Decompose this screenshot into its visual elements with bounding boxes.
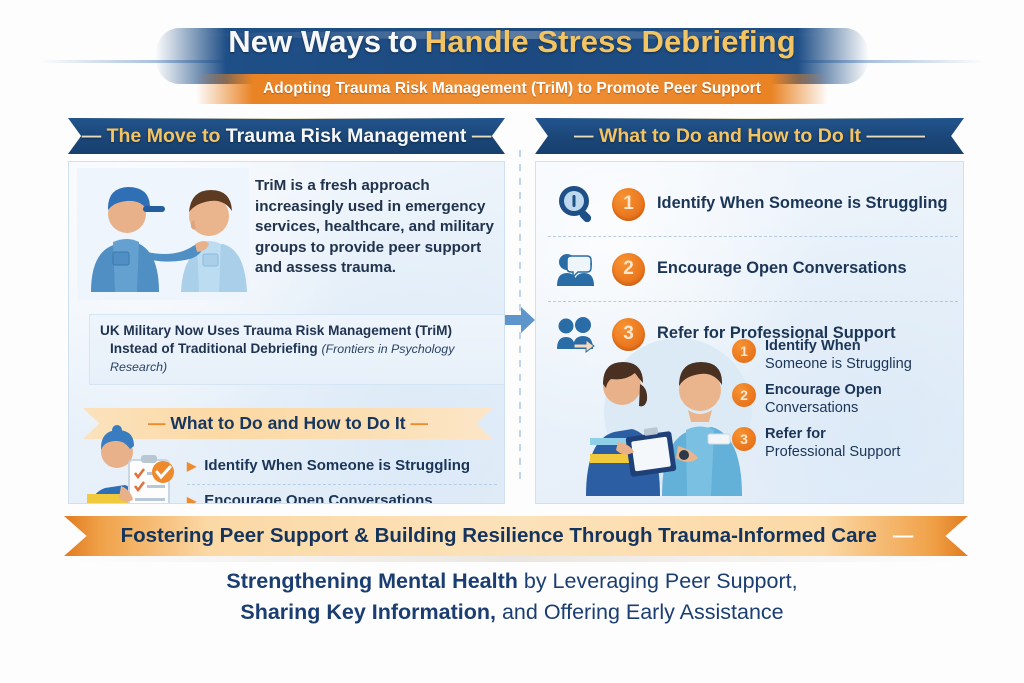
step-number: 2 [612, 253, 645, 286]
overlay-number: 1 [732, 339, 756, 363]
list-item: ▶ Identify When Someone is Struggling [187, 450, 497, 485]
footer-text: Strengthening Mental Health by Leveragin… [0, 566, 1024, 628]
left-top-row: TriM is a fresh approach increasingly us… [69, 162, 504, 304]
page-title: New Ways to Handle Stress Debriefing [0, 14, 1024, 70]
magnifier-icon [554, 183, 600, 225]
page-subtitle: Adopting Trauma Risk Management (TriM) t… [0, 75, 1024, 103]
footer-line-2-bold: Sharing Key Information, [240, 600, 496, 624]
footer-line-2: Sharing Key Information, and Offering Ea… [0, 597, 1024, 628]
overlay-line-2: Professional Support [765, 444, 900, 462]
step-label: Identify When Someone is Struggling [657, 194, 948, 214]
overlay-numbered-list: 1 Identify When Someone is Struggling 2 … [732, 338, 942, 470]
list-item: 2 Encourage Open Conversations [732, 382, 942, 417]
footer-line-1: Strengthening Mental Health by Leveragin… [0, 566, 1024, 597]
right-panel-header: — What to Do and How to Do It ——— [535, 118, 964, 154]
bullet-triangle-icon: ▶ [187, 492, 196, 504]
title-part-1: New Ways [228, 24, 381, 60]
ribbon-glow [544, 114, 956, 119]
steps-list: 1 Identify When Someone is Struggling [548, 172, 958, 366]
bullet-triangle-icon: ▶ [187, 457, 196, 475]
speech-bubbles-icon [554, 248, 600, 290]
bottom-banner: Fostering Peer Support & Building Resili… [64, 516, 968, 556]
right-panel-body: 1 Identify When Someone is Struggling [535, 161, 964, 504]
overlay-line-2: Someone is Struggling [765, 356, 912, 374]
right-header-dash-right: ——— [866, 125, 925, 147]
list-item: ▶ Encourage Open Conversations [187, 485, 497, 504]
infographic-canvas: New Ways to Handle Stress Debriefing Ado… [0, 0, 1024, 683]
overlay-line-1: Identify When [765, 338, 912, 356]
step-number: 1 [612, 188, 645, 221]
overlay-number: 2 [732, 383, 756, 407]
bullet-label: Encourage Open Conversations [204, 492, 432, 504]
bottom-banner-label: Fostering Peer Support & Building Resili… [121, 524, 877, 548]
left-panel: — The Move to Trauma Risk Management — [64, 118, 509, 508]
left-header-gold: The Move to [107, 125, 221, 147]
left-header-dash: — [82, 125, 102, 147]
citation-box: ▸ UK Military Now Uses Trauma Risk Manag… [89, 314, 505, 385]
left-header-dash-right: — [472, 125, 492, 147]
overlay-line-1: Encourage Open [765, 382, 882, 400]
step-label: Encourage Open Conversations [657, 259, 907, 279]
title-part-3: Handle Stress Debriefing [425, 24, 796, 60]
footer-line-1-bold: Strengthening Mental Health [226, 569, 517, 593]
two-workers-illustration [77, 168, 249, 300]
left-panel-body: TriM is a fresh approach increasingly us… [68, 161, 505, 504]
bullet-label: Identify When Someone is Struggling [204, 457, 470, 475]
overlay-number: 3 [732, 427, 756, 451]
list-item: 1 Identify When Someone is Struggling [548, 172, 958, 237]
sub-header-label: What to Do and How to Do It [170, 413, 405, 433]
bottom-banner-dash: — [893, 524, 912, 548]
list-item: 1 Identify When Someone is Struggling [732, 338, 942, 373]
footer-line-1-regular: by Leveraging Peer Support, [518, 569, 798, 593]
right-header-dash-left: — [574, 125, 594, 147]
banner-shadow [70, 556, 962, 562]
footer-line-2-regular: and Offering Early Assistance [496, 600, 784, 624]
list-item: 2 Encourage Open Conversations [548, 237, 958, 302]
right-panel: — What to Do and How to Do It ——— [531, 118, 968, 508]
left-bullet-list: ▶ Identify When Someone is Struggling ▶ … [187, 450, 497, 504]
clipboard-worker-illustration [77, 420, 189, 504]
left-paragraph: TriM is a fresh approach increasingly us… [255, 176, 501, 279]
overlay-line-2: Conversations [765, 400, 882, 418]
sub-dash-right: — [410, 413, 428, 433]
right-header-label: What to Do and How to Do It [599, 125, 861, 147]
left-panel-header: — The Move to Trauma Risk Management — [68, 118, 505, 154]
overlay-line-1: Refer for [765, 426, 900, 444]
left-header-white: Trauma Risk Management [226, 125, 467, 147]
ribbon-glow [77, 114, 497, 119]
title-part-2: to [388, 24, 417, 60]
list-item: 3 Refer for Professional Support [732, 426, 942, 461]
